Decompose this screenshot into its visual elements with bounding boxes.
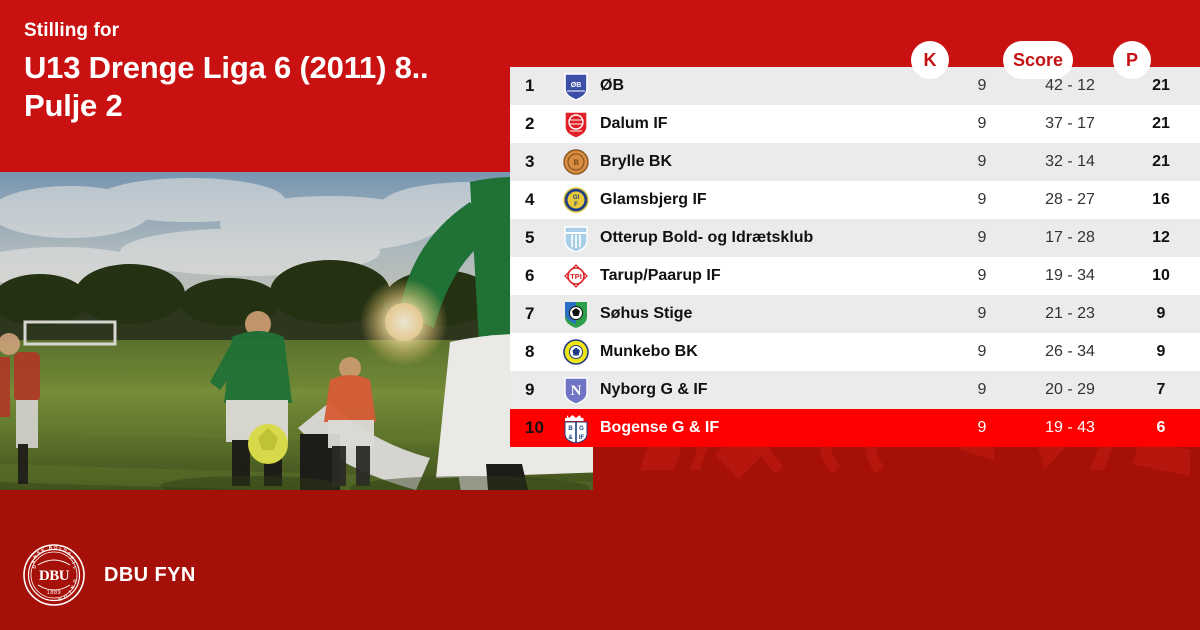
match-photo: [0, 172, 593, 490]
row-points: 21: [1122, 153, 1200, 171]
svg-text:B: B: [568, 426, 573, 432]
glamsbjerg-crest-icon: GIF: [552, 186, 600, 214]
svg-text:DBU: DBU: [39, 568, 70, 584]
row-matches: 9: [946, 419, 1018, 437]
row-points: 21: [1122, 77, 1200, 95]
row-score: 19 - 34: [1018, 267, 1122, 285]
svg-text:GI: GI: [573, 195, 580, 201]
row-rank: 8: [510, 342, 552, 362]
svg-text:&: &: [568, 435, 573, 441]
row-score: 37 - 17: [1018, 115, 1122, 133]
kicker-text: Stilling for: [24, 20, 494, 43]
row-rank: 5: [510, 228, 552, 248]
svg-text:L: L: [72, 565, 78, 570]
row-score: 26 - 34: [1018, 343, 1122, 361]
row-matches: 9: [946, 229, 1018, 247]
row-rank: 1: [510, 76, 552, 96]
row-points: 9: [1122, 343, 1200, 361]
row-score: 32 - 14: [1018, 153, 1122, 171]
row-team-name: Dalum IF: [600, 115, 946, 133]
table-row[interactable]: 9NNyborg G & IF920 - 297: [510, 371, 1200, 409]
row-matches: 9: [946, 343, 1018, 361]
row-matches: 9: [946, 191, 1018, 209]
svg-text:U: U: [72, 579, 78, 584]
standings-table: 1ØBØB942 - 12212Dalum IF937 - 17213BBryl…: [510, 67, 1200, 447]
svg-text:B: B: [573, 158, 579, 167]
row-matches: 9: [946, 381, 1018, 399]
svg-text:F: F: [574, 202, 578, 208]
svg-text:K: K: [41, 547, 47, 553]
row-team-name: Otterup Bold- og Idrætsklub: [600, 229, 946, 247]
row-team-name: Munkebo BK: [600, 343, 946, 361]
table-row[interactable]: 4GIFGlamsbjerg IF928 - 2716: [510, 181, 1200, 219]
dalum-crest-icon: [552, 110, 600, 138]
svg-text:N: N: [571, 383, 582, 399]
row-rank: 6: [510, 266, 552, 286]
row-rank: 4: [510, 190, 552, 210]
row-team-name: ØB: [600, 77, 946, 95]
brylle-crest-icon: B: [552, 148, 600, 176]
row-team-name: Tarup/Paarup IF: [600, 267, 946, 285]
row-team-name: Bogense G & IF: [600, 419, 946, 437]
otterup-crest-icon: [552, 224, 600, 252]
row-matches: 9: [946, 77, 1018, 95]
row-score: 19 - 43: [1018, 419, 1122, 437]
row-rank: 2: [510, 114, 552, 134]
svg-text:TPI: TPI: [570, 272, 582, 281]
row-score: 17 - 28: [1018, 229, 1122, 247]
row-rank: 9: [510, 380, 552, 400]
column-header-matches: K: [911, 41, 949, 79]
row-points: 12: [1122, 229, 1200, 247]
row-team-name: Brylle BK: [600, 153, 946, 171]
svg-text:O: O: [54, 545, 58, 550]
svg-text:N: N: [57, 596, 63, 602]
footer-label: DBU FYN: [104, 564, 196, 587]
row-score: 21 - 23: [1018, 305, 1122, 323]
row-points: 6: [1122, 419, 1200, 437]
table-row[interactable]: 2Dalum IF937 - 1721: [510, 105, 1200, 143]
munkebo-crest-icon: [552, 338, 600, 366]
svg-text:I: I: [71, 561, 76, 565]
column-header-badges: K Score P: [0, 41, 1200, 79]
table-row[interactable]: 6TPITarup/Paarup IF919 - 3410: [510, 257, 1200, 295]
row-score: 20 - 29: [1018, 381, 1122, 399]
row-points: 7: [1122, 381, 1200, 399]
row-matches: 9: [946, 115, 1018, 133]
table-row[interactable]: 3BBrylle BK932 - 1421: [510, 143, 1200, 181]
row-points: 16: [1122, 191, 1200, 209]
row-team-name: Glamsbjerg IF: [600, 191, 946, 209]
row-points: 21: [1122, 115, 1200, 133]
column-header-score: Score: [1003, 41, 1073, 79]
row-matches: 9: [946, 305, 1018, 323]
table-row[interactable]: 7Søhus Stige921 - 239: [510, 295, 1200, 333]
svg-text:ØB: ØB: [571, 82, 582, 89]
row-points: 10: [1122, 267, 1200, 285]
dbu-logo: DBU 1889 D A N S K B O L D S P I L U N I…: [22, 543, 86, 607]
footer-bar: DBU 1889 D A N S K B O L D S P I L U N I…: [0, 520, 1200, 630]
svg-text:1889: 1889: [47, 590, 62, 596]
row-matches: 9: [946, 153, 1018, 171]
table-row[interactable]: 5Otterup Bold- og Idrætsklub917 - 2812: [510, 219, 1200, 257]
svg-text:D: D: [31, 564, 37, 570]
column-header-points: P: [1113, 41, 1151, 79]
nyborg-crest-icon: N: [552, 376, 600, 404]
table-row[interactable]: 8Munkebo BK926 - 349: [510, 333, 1200, 371]
page-title-line-2: Pulje 2: [24, 87, 494, 125]
row-score: 42 - 12: [1018, 77, 1122, 95]
row-team-name: Søhus Stige: [600, 305, 946, 323]
soehus-crest-icon: [552, 300, 600, 328]
row-rank: 10: [510, 418, 552, 438]
row-rank: 3: [510, 152, 552, 172]
table-row[interactable]: 10BG&IFBogense G & IF919 - 436: [510, 409, 1200, 447]
svg-text:IF: IF: [579, 435, 585, 441]
tarup-crest-icon: TPI: [552, 262, 600, 290]
svg-text:G: G: [579, 426, 584, 432]
row-score: 28 - 27: [1018, 191, 1122, 209]
row-rank: 7: [510, 304, 552, 324]
bogense-crest-icon: BG&IF: [552, 413, 600, 443]
row-matches: 9: [946, 267, 1018, 285]
row-team-name: Nyborg G & IF: [600, 381, 946, 399]
row-points: 9: [1122, 305, 1200, 323]
